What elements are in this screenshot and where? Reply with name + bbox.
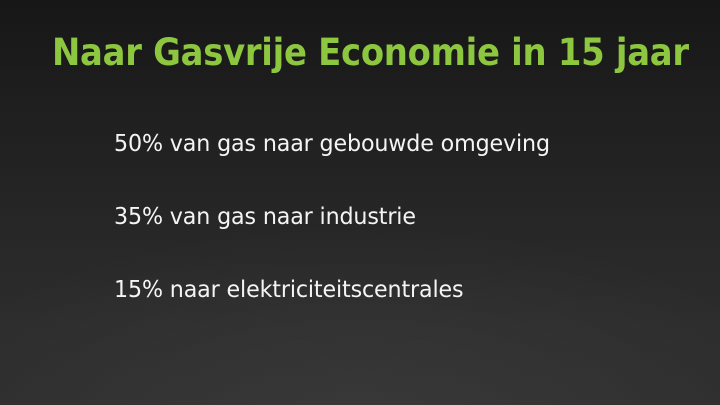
bullet-item-3: 15% naar elektriciteitscentrales <box>114 276 654 304</box>
bullet-item-2: 35% van gas naar industrie <box>114 203 654 231</box>
bullet-item-1: 50% van gas naar gebouwde omgeving <box>114 130 654 158</box>
slide-title: Naar Gasvrije Economie in 15 jaar <box>52 30 638 76</box>
presentation-slide: Naar Gasvrije Economie in 15 jaar 50% va… <box>0 0 720 405</box>
bullet-list: 50% van gas naar gebouwde omgeving 35% v… <box>114 130 674 304</box>
